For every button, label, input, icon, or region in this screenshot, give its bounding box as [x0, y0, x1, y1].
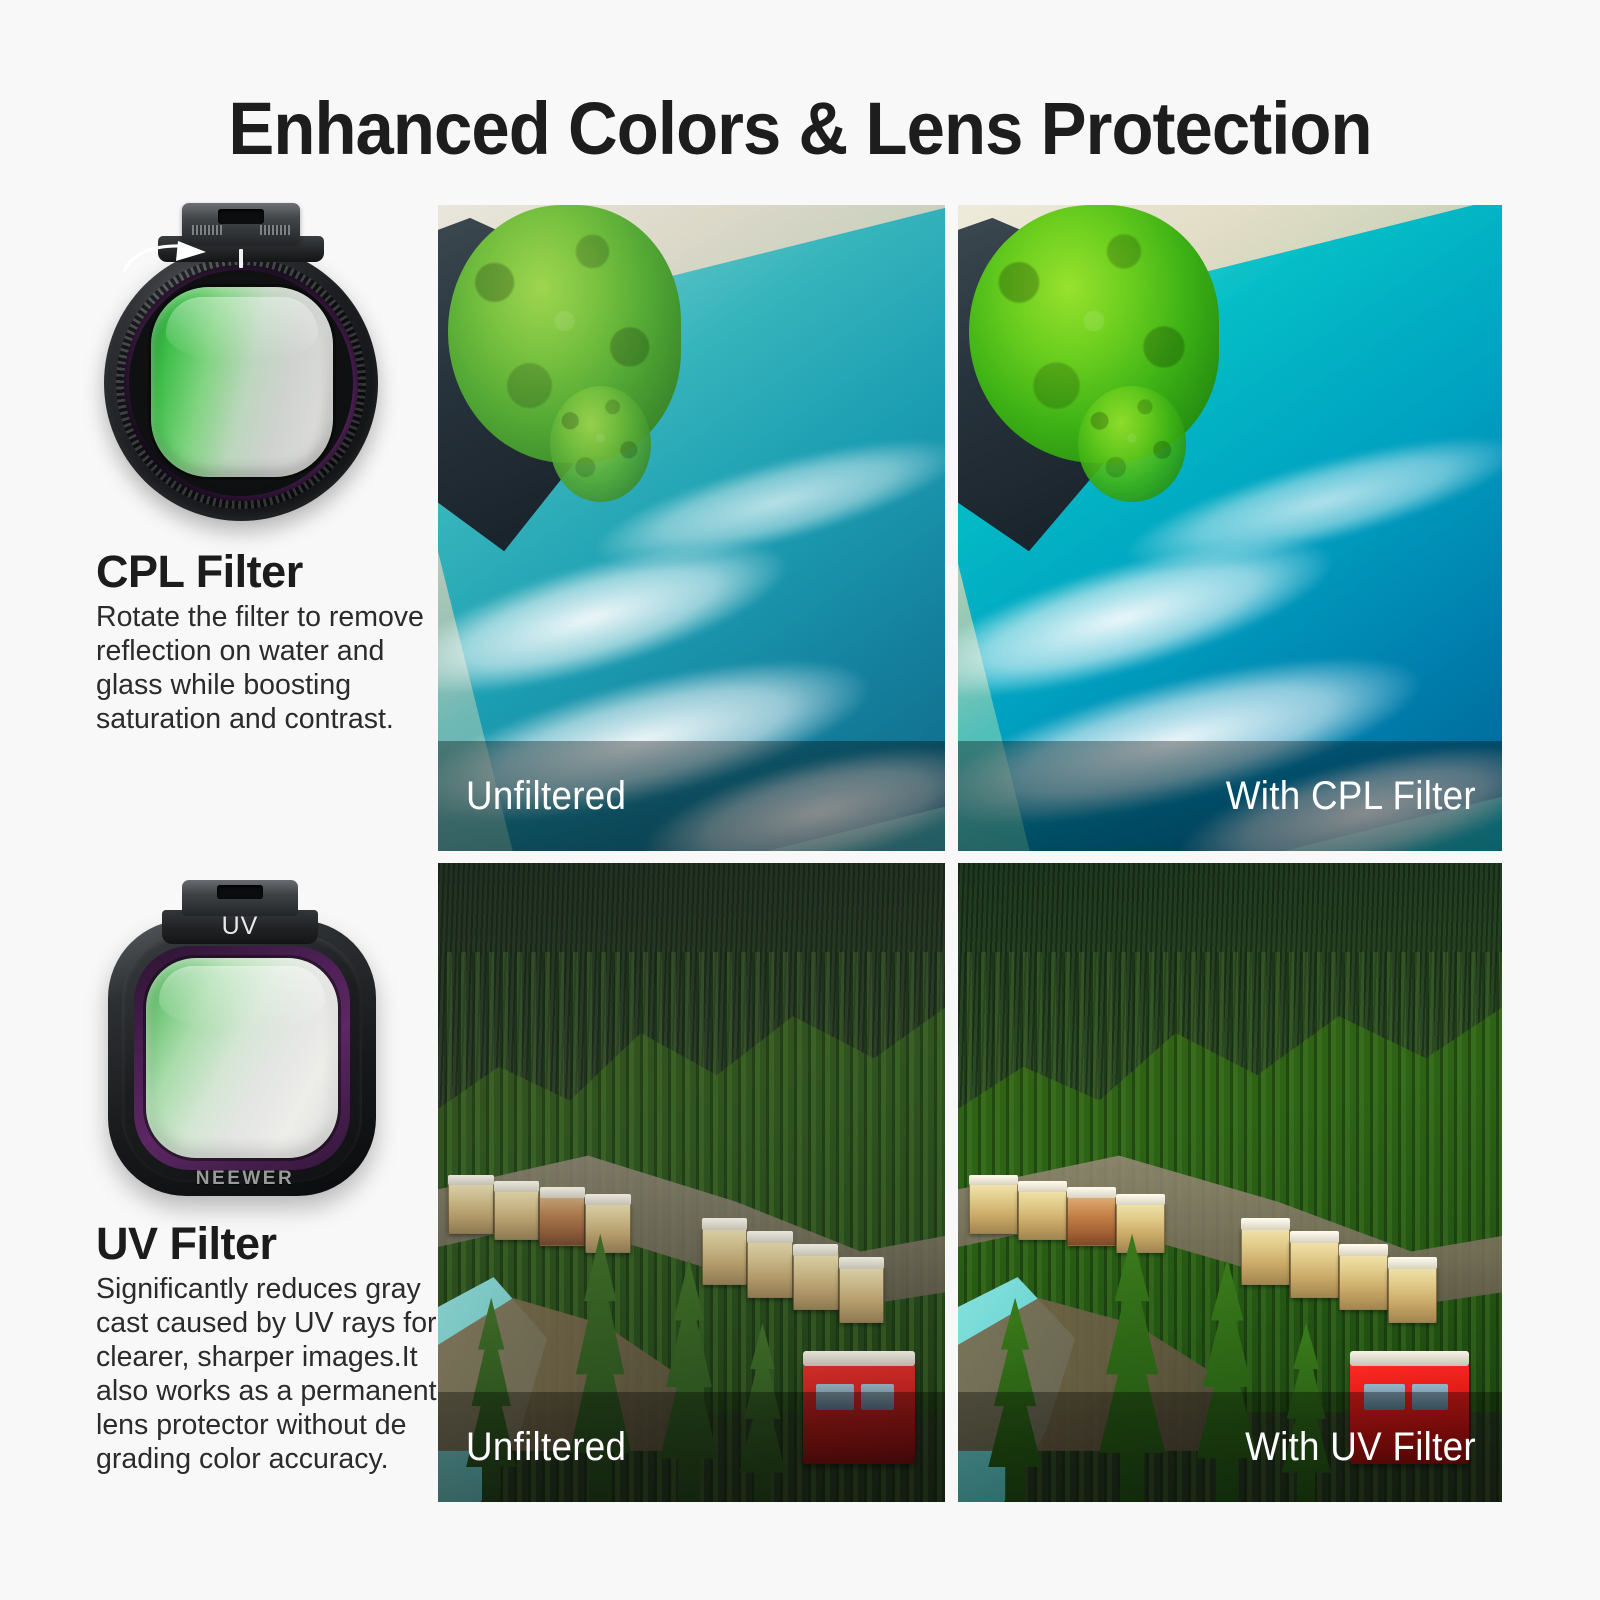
photo-label: Unfiltered [466, 1425, 626, 1470]
left-column: CPL Filter Rotate the filter to remove r… [0, 0, 438, 1600]
clip-slot [218, 209, 264, 224]
uv-face-label: UV [162, 912, 318, 941]
uv-feature-heading: UV Filter [96, 1218, 277, 1270]
clip-grip-ridges-right [260, 225, 290, 235]
cpl-filter-product-image [96, 203, 386, 533]
photo-label: With UV Filter [1245, 1425, 1476, 1470]
brand-wordmark: NEEWER [100, 1168, 390, 1190]
infographic-page: Enhanced Colors & Lens Protection CPL Fi… [0, 0, 1600, 1600]
comparison-photo-grid: Unfiltered With CPL Filter [438, 205, 1502, 1502]
uv-glass-element [146, 958, 338, 1158]
photo-label-band: With CPL Filter [958, 741, 1502, 851]
comparison-photo-uv-filtered: With UV Filter [958, 863, 1502, 1502]
rotation-arrow-icon [120, 241, 240, 275]
cpl-mount-clip [182, 203, 300, 243]
photo-label: With CPL Filter [1226, 774, 1476, 819]
comparison-photo-cpl-unfiltered: Unfiltered [438, 205, 945, 851]
comparison-photo-uv-unfiltered: Unfiltered [438, 863, 945, 1502]
uv-mount-clip [182, 880, 298, 916]
cpl-feature-description: Rotate the filter to remove reflection o… [96, 600, 441, 736]
photo-label-band: Unfiltered [438, 741, 945, 851]
photo-label-band: Unfiltered [438, 1392, 945, 1502]
cpl-glass-element [151, 287, 333, 477]
uv-filter-product-image: UV NEEWER [100, 880, 390, 1210]
uv-feature-description: Significantly reduces gray cast caused b… [96, 1272, 441, 1476]
rotation-index-mark [239, 249, 243, 268]
photo-label: Unfiltered [466, 774, 626, 819]
uv-clip-slot [217, 885, 263, 899]
photo-label-band: With UV Filter [958, 1392, 1502, 1502]
moss-patch [550, 386, 651, 502]
clip-grip-ridges-left [192, 225, 222, 235]
cpl-feature-heading: CPL Filter [96, 546, 303, 598]
comparison-photo-cpl-filtered: With CPL Filter [958, 205, 1502, 851]
moss-patch [1078, 386, 1187, 502]
